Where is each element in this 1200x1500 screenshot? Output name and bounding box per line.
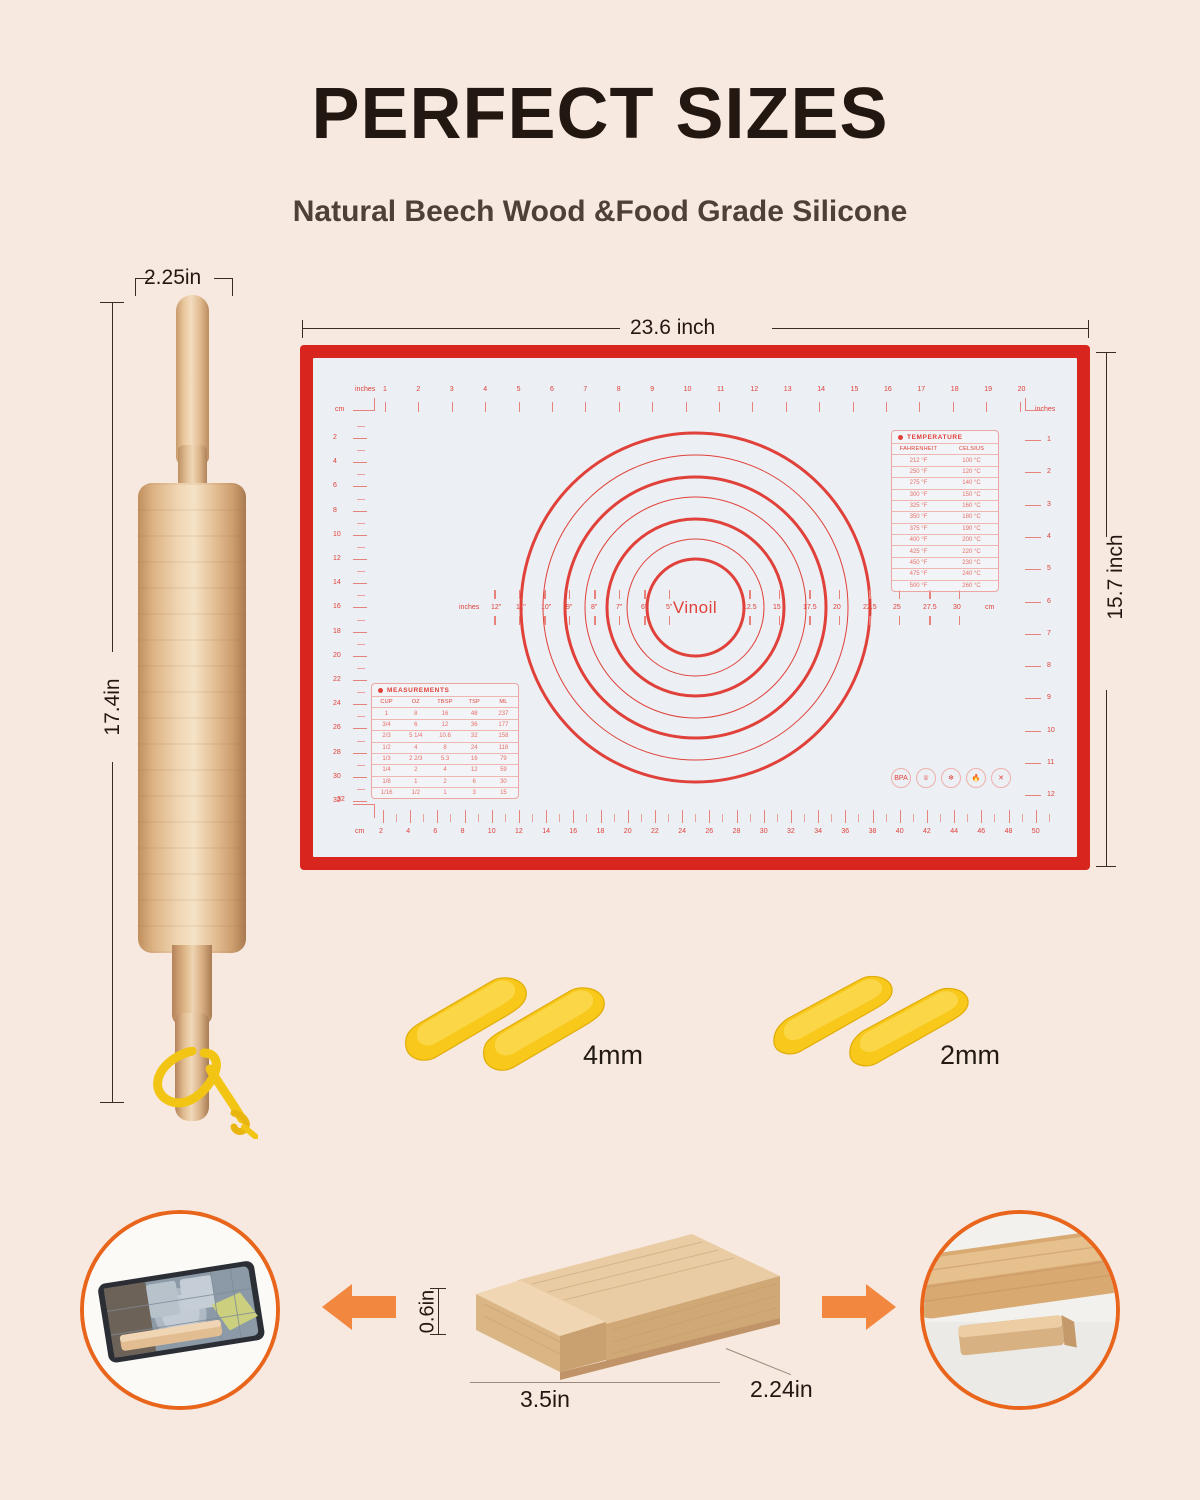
circle-scale-right-tick xyxy=(839,590,840,599)
measurements-table-cell: 1 xyxy=(372,708,401,718)
mat-left-tick xyxy=(353,728,367,729)
temperature-table-cell: 150 °C xyxy=(945,490,998,500)
mat-bottom-tick-label: 44 xyxy=(950,828,958,835)
arrow-left-icon xyxy=(318,1282,398,1332)
mat-left-tick xyxy=(353,777,367,778)
circle-scale-right-value: 12.5 xyxy=(743,604,757,611)
rolling-pin-illustration xyxy=(120,295,280,1125)
mat-bottom-tick xyxy=(845,810,846,823)
mat-bottom-tick xyxy=(873,810,874,823)
temperature-table-cell: 325 °F xyxy=(892,501,945,511)
circle-scale-left-tick xyxy=(544,616,546,625)
measurements-table-row: 1/24824118 xyxy=(372,742,518,753)
temperature-table-row: 325 °F160 °C xyxy=(892,500,998,511)
circle-scale-right-tick xyxy=(809,590,811,599)
mat-bottom-ruler-unit: cm xyxy=(355,828,364,835)
measurements-table-cell: 36 xyxy=(460,720,489,730)
mat-top-tick-label: 20 xyxy=(1018,386,1026,393)
mat-bottom-tick-label: 22 xyxy=(651,828,659,835)
circle-scale-left-tick xyxy=(494,590,496,599)
mat-top-ruler-unit: inches xyxy=(355,386,375,393)
mat-top-tick-label: 3 xyxy=(450,386,454,393)
measurements-table-cell: 3 xyxy=(460,788,489,798)
phone-on-stand-illustration xyxy=(84,1214,276,1406)
mat-bottom-tick xyxy=(1036,810,1037,823)
mat-bottom-tick-label: 40 xyxy=(896,828,904,835)
mat-bottom-tick-label: 6 xyxy=(433,828,437,835)
mat-bottom-minor-tick xyxy=(1022,814,1023,822)
mat-bottom-minor-tick xyxy=(532,814,533,822)
measurements-table-cell: 2 2/3 xyxy=(401,754,430,764)
pin-length-line-upper xyxy=(112,302,113,652)
mat-left-tick xyxy=(353,535,367,536)
mat-left-tick xyxy=(353,680,367,681)
temperature-table-header-row: FAHRENHEITCELSIUS xyxy=(892,443,998,454)
mat-bottom-minor-tick xyxy=(831,814,832,822)
circle-scale-left-value: 9" xyxy=(566,604,572,611)
mat-top-tick-label: 17 xyxy=(917,386,925,393)
circle-scale-right-value: 22.5 xyxy=(863,604,877,611)
mat-bottom-minor-tick xyxy=(668,814,669,822)
mat-top-tick xyxy=(752,402,753,412)
measurements-table-cell: 6 xyxy=(460,777,489,787)
mat-height-label: 15.7 inch xyxy=(1104,527,1128,627)
bpa-free-icon: BPA xyxy=(891,768,911,788)
stand-depth-label: 2.24in xyxy=(750,1376,813,1403)
temperature-table-cell: 180 °C xyxy=(945,512,998,522)
circle-scale-right-tick xyxy=(779,590,780,599)
temperature-table-cell: 200 °C xyxy=(945,535,998,545)
mat-bottom-tick xyxy=(737,810,738,823)
mat-right-tick-label: 7 xyxy=(1047,630,1051,637)
mat-left-minor-tick xyxy=(357,789,365,790)
mat-width-tick-right xyxy=(1088,320,1089,338)
temperature-table-cell: 220 °C xyxy=(945,546,998,556)
mat-corner-bracket-tl-v xyxy=(374,398,375,411)
mat-bottom-tick xyxy=(546,810,547,823)
mat-bottom-minor-tick xyxy=(641,814,642,822)
mat-bottom-tick-label: 12 xyxy=(515,828,523,835)
measurements-table-cell: 30 xyxy=(489,777,518,787)
mat-top-tick xyxy=(986,402,987,412)
mat-height-cap-bottom xyxy=(1096,866,1116,867)
mat-right-tick-label: 3 xyxy=(1047,501,1051,508)
band-4mm-label: 4mm xyxy=(583,1040,643,1071)
circle-scale-right-tick xyxy=(809,616,811,625)
mat-bottom-tick xyxy=(791,810,792,823)
measurements-table-header: MEASUREMENTS xyxy=(372,684,518,696)
mat-corner-bracket-tr xyxy=(1025,410,1043,411)
mat-bottom-tick-label: 18 xyxy=(597,828,605,835)
temperature-table-cell: 275 °F xyxy=(892,478,945,488)
mat-left-tick xyxy=(353,486,367,487)
temperature-table-cell: 500 °F xyxy=(892,581,945,591)
mat-bottom-tick xyxy=(900,810,901,823)
temperature-table-cell: 100 °C xyxy=(945,455,998,465)
measurements-table-cell: 2 xyxy=(430,777,459,787)
mat-left-tick xyxy=(353,462,367,463)
mat-bottom-tick-label: 36 xyxy=(841,828,849,835)
circle-scale-left-tick xyxy=(494,616,496,625)
mat-right-tick xyxy=(1025,537,1041,538)
mat-left-tick-label: 14 xyxy=(333,579,341,586)
measurements-table-cell: 1/2 xyxy=(401,788,430,798)
circle-scale-right-tick xyxy=(959,616,960,625)
circle-scale-right-tick xyxy=(899,616,900,625)
circle-scale-left-value: 10" xyxy=(541,604,551,611)
mat-bottom-tick xyxy=(410,810,411,823)
measurements-table-cell: 5.3 xyxy=(430,754,459,764)
mat-bottom-ruler-corner: 32 xyxy=(337,796,345,803)
temperature-table-header: TEMPERATURE xyxy=(892,431,998,443)
circle-scale-right-tick xyxy=(839,616,840,625)
mat-width-tick-left xyxy=(302,320,303,338)
temperature-table-title: TEMPERATURE xyxy=(907,434,963,441)
pin-on-stand-illustration xyxy=(924,1214,1116,1406)
mat-left-tick-label: 6 xyxy=(333,482,337,489)
mat-bottom-tick-label: 8 xyxy=(461,828,465,835)
mat-left-minor-tick xyxy=(357,523,365,524)
measurements-table-cell: 1/2 xyxy=(372,743,401,753)
mat-right-tick-label: 12 xyxy=(1047,791,1055,798)
mat-top-tick xyxy=(652,402,653,412)
circle-scale-left-tick xyxy=(644,616,646,625)
measurements-table-header-cell: OZ xyxy=(401,697,430,707)
mat-left-tick-label: 2 xyxy=(333,434,337,441)
mat-right-tick-label: 4 xyxy=(1047,533,1051,540)
mat-top-tick xyxy=(786,402,787,412)
circle-scale-right-value: 25 xyxy=(893,604,901,611)
phone-stand-photo xyxy=(80,1210,280,1410)
circle-scale-left-value: 11" xyxy=(516,604,526,611)
temperature-table-cell: 425 °F xyxy=(892,546,945,556)
pin-width-tick-right xyxy=(232,278,233,296)
mat-bottom-tick xyxy=(628,810,629,823)
mat-top-tick xyxy=(519,402,520,412)
mat-top-tick xyxy=(886,402,887,412)
mat-top-tick xyxy=(485,402,486,412)
mat-bottom-tick xyxy=(573,810,574,823)
circle-scale-right-tick xyxy=(749,590,751,599)
measurements-table-title: MEASUREMENTS xyxy=(387,687,449,694)
mat-left-tick xyxy=(353,583,367,584)
mat-top-tick-label: 10 xyxy=(684,386,692,393)
mat-left-tick xyxy=(353,607,367,608)
pin-width-tick-left xyxy=(135,278,136,296)
measurements-table-cell: 15 xyxy=(489,788,518,798)
mat-left-tick-label: 12 xyxy=(333,555,341,562)
yellow-wrist-strap-icon xyxy=(130,1047,258,1139)
temperature-table-cell: 120 °C xyxy=(945,467,998,477)
circle-scale-left-value: 5" xyxy=(666,604,672,611)
mat-left-minor-tick xyxy=(357,644,365,645)
mat-left-minor-tick xyxy=(357,716,365,717)
mat-right-tick-label: 11 xyxy=(1047,759,1054,766)
measurements-table-cell: 24 xyxy=(460,743,489,753)
mat-right-tick xyxy=(1025,602,1041,603)
temperature-table-cell: 160 °C xyxy=(945,501,998,511)
temperature-table-row: 450 °F230 °C xyxy=(892,557,998,568)
mat-bottom-tick xyxy=(519,810,520,823)
circle-scale-right-value: 17.5 xyxy=(803,604,817,611)
mat-left-minor-tick xyxy=(357,547,365,548)
measurements-table-cell: 16 xyxy=(430,708,459,718)
measurements-table-cell: 4 xyxy=(401,743,430,753)
mat-left-tick xyxy=(353,438,367,439)
mat-top-tick-label: 13 xyxy=(784,386,792,393)
circle-scale-right-tick xyxy=(779,616,780,625)
mat-left-tick xyxy=(353,511,367,512)
mat-bottom-tick-label: 48 xyxy=(1005,828,1013,835)
mat-top-tick xyxy=(418,402,419,412)
pin-width-line-right xyxy=(214,278,232,279)
temperature-table-row: 500 °F260 °C xyxy=(892,580,998,591)
measurements-table-row: 1/161/21315 xyxy=(372,787,518,798)
measurements-table-cell: 8 xyxy=(430,743,459,753)
mat-bottom-minor-tick xyxy=(586,814,587,822)
mat-top-tick-label: 16 xyxy=(884,386,892,393)
mat-right-tick-label: 8 xyxy=(1047,662,1051,669)
mat-bottom-tick-label: 26 xyxy=(705,828,713,835)
circle-scale-right-tick xyxy=(749,616,751,625)
temperature-table-cell: 300 °F xyxy=(892,490,945,500)
freezer-safe-icon: ❄ xyxy=(941,768,961,788)
pin-length-cap-bottom xyxy=(100,1102,124,1103)
mat-top-tick-label: 11 xyxy=(717,386,724,393)
mat-bottom-minor-tick xyxy=(695,814,696,822)
mat-bottom-tick-label: 28 xyxy=(733,828,741,835)
temperature-table-cell: 240 °C xyxy=(945,569,998,579)
measurements-table-cell: 1/3 xyxy=(372,754,401,764)
mat-corner-bracket-tr-v xyxy=(1025,398,1026,411)
mat-bottom-minor-tick xyxy=(858,814,859,822)
circle-scale-left-tick xyxy=(619,590,620,599)
temperature-dot-icon xyxy=(898,435,903,440)
mat-top-tick xyxy=(953,402,954,412)
mat-bottom-tick-label: 14 xyxy=(542,828,550,835)
mat-top-tick xyxy=(385,402,386,412)
mat-top-tick-label: 14 xyxy=(817,386,825,393)
mat-left-tick-label: 8 xyxy=(333,507,337,514)
mat-left-minor-tick xyxy=(357,741,365,742)
mat-bottom-tick-label: 16 xyxy=(569,828,577,835)
mat-top-tick xyxy=(1020,402,1021,412)
measurements-table-cell: 48 xyxy=(460,708,489,718)
measurements-table-cell: 2 xyxy=(401,765,430,775)
band-2mm-label: 2mm xyxy=(940,1040,1000,1071)
mat-left-tick-label: 16 xyxy=(333,603,341,610)
mat-corner-bracket-tl xyxy=(353,410,375,411)
measurements-table-cell: 1 xyxy=(430,788,459,798)
circle-scale-left-tick xyxy=(544,590,546,599)
arrow-right-icon xyxy=(820,1282,900,1332)
mat-right-tick xyxy=(1025,666,1041,667)
measurements-table-cell: 16 xyxy=(460,754,489,764)
mat-bottom-minor-tick xyxy=(559,814,560,822)
temperature-table-header-cell: FAHRENHEIT xyxy=(892,444,945,454)
rolling-pin-body xyxy=(138,483,246,953)
mat-bottom-tick-label: 34 xyxy=(814,828,822,835)
circle-scale-left-tick xyxy=(594,590,596,599)
measurements-table-row: 3/461236177 xyxy=(372,719,518,730)
mat-top-tick-label: 5 xyxy=(517,386,521,393)
silicone-baking-mat: inches cm 123456789101112131415161718192… xyxy=(300,345,1090,870)
mat-left-tick xyxy=(353,632,367,633)
mat-left-tick-label: 22 xyxy=(333,676,341,683)
mat-bottom-tick xyxy=(1009,810,1010,823)
mat-bottom-tick xyxy=(655,810,656,823)
temperature-table-row: 425 °F220 °C xyxy=(892,545,998,556)
circle-scale-right-value: 15 xyxy=(773,604,781,611)
mat-bottom-minor-tick xyxy=(750,814,751,822)
mat-bottom-minor-tick xyxy=(505,814,506,822)
temperature-table-cell: 475 °F xyxy=(892,569,945,579)
mat-top-tick-label: 8 xyxy=(617,386,621,393)
mat-top-tick xyxy=(552,402,553,412)
mat-top-tick xyxy=(686,402,687,412)
measurements-table-cell: 32 xyxy=(460,731,489,741)
mat-top-tick-label: 6 xyxy=(550,386,554,393)
rolling-pin-handle-top xyxy=(176,295,209,465)
mat-bottom-tick-label: 10 xyxy=(488,828,496,835)
mat-left-minor-tick xyxy=(357,474,365,475)
stand-width-line xyxy=(470,1382,720,1383)
measurements-table-header-cell: CUP xyxy=(372,697,401,707)
mat-top-tick-label: 2 xyxy=(416,386,420,393)
mat-top-tick-label: 19 xyxy=(984,386,992,393)
measurements-table-cell: 1/4 xyxy=(372,765,401,775)
mat-left-tick xyxy=(353,704,367,705)
mat-right-tick-label: 1 xyxy=(1047,436,1051,443)
mat-bottom-minor-tick xyxy=(940,814,941,822)
mat-top-tick xyxy=(585,402,586,412)
temperature-conversion-table: TEMPERATURE FAHRENHEITCELSIUS212 °F100 °… xyxy=(891,430,999,592)
mat-bottom-tick-label: 24 xyxy=(678,828,686,835)
temperature-table-cell: 400 °F xyxy=(892,535,945,545)
mat-height-line-upper xyxy=(1106,352,1107,537)
mat-top-tick xyxy=(919,402,920,412)
pin-length-label: 17.4in xyxy=(101,667,125,747)
mat-left-tick-label: 18 xyxy=(333,628,341,635)
measurements-table-header-row: CUPOZTBSPTSPML xyxy=(372,696,518,707)
mat-bottom-minor-tick xyxy=(450,814,451,822)
measurements-table-cell: 79 xyxy=(489,754,518,764)
measurements-table-row: 1/32 2/35.31679 xyxy=(372,753,518,764)
temperature-table-cell: 212 °F xyxy=(892,455,945,465)
mat-left-minor-tick xyxy=(357,595,365,596)
mat-bottom-tick xyxy=(981,810,982,823)
mat-right-tick-label: 6 xyxy=(1047,598,1051,605)
circle-scale-left-tick xyxy=(669,616,670,625)
mat-top-tick xyxy=(819,402,820,412)
mat-bottom-minor-tick xyxy=(777,814,778,822)
measurements-table-cell: 3/4 xyxy=(372,720,401,730)
mat-left-minor-tick xyxy=(357,692,365,693)
mat-left-tick-label: 24 xyxy=(333,700,341,707)
mat-left-tick xyxy=(353,801,367,802)
measurements-table-cell: 2/3 xyxy=(372,731,401,741)
measurements-table-cell: 1 xyxy=(401,777,430,787)
mat-left-tick-label: 30 xyxy=(333,773,341,780)
measurements-table-cell: 12 xyxy=(460,765,489,775)
circle-scale-left-unit: inches xyxy=(459,604,479,611)
circle-scale-left-tick xyxy=(569,616,570,625)
temperature-table-row: 350 °F180 °C xyxy=(892,511,998,522)
mat-left-tick xyxy=(353,753,367,754)
mat-left-minor-tick xyxy=(357,499,365,500)
mat-right-tick xyxy=(1025,472,1041,473)
mat-bottom-tick xyxy=(682,810,683,823)
mat-top-tick-label: 18 xyxy=(951,386,959,393)
circle-scale-left-tick xyxy=(519,616,520,625)
mat-bottom-minor-tick xyxy=(994,814,995,822)
mat-right-tick xyxy=(1025,440,1041,441)
mat-top-tick-label: 7 xyxy=(583,386,587,393)
mat-bottom-tick xyxy=(818,810,819,823)
mat-bottom-tick xyxy=(383,810,384,823)
food-safe-icon: ♕ xyxy=(916,768,936,788)
circle-scale-right-value: 27.5 xyxy=(923,604,937,611)
circle-scale-left-tick xyxy=(569,590,570,599)
measurements-table-header-cell: TSP xyxy=(460,697,489,707)
measurements-table-cell: 177 xyxy=(489,720,518,730)
mat-top-tick xyxy=(619,402,620,412)
mat-bottom-tick-label: 30 xyxy=(760,828,768,835)
mat-left-tick-label: 4 xyxy=(333,458,337,465)
mat-top-tick-label: 12 xyxy=(750,386,758,393)
temperature-table-row: 400 °F200 °C xyxy=(892,534,998,545)
temperature-table-row: 250 °F120 °C xyxy=(892,466,998,477)
mat-right-tick-label: 9 xyxy=(1047,694,1051,701)
mat-right-tick xyxy=(1025,569,1041,570)
mat-left-tick xyxy=(353,559,367,560)
mat-bottom-tick xyxy=(465,810,466,823)
mat-bottom-tick xyxy=(437,810,438,823)
mat-left-tick-label: 10 xyxy=(333,531,341,538)
mat-left-tick-label: 28 xyxy=(333,749,341,756)
mat-right-tick xyxy=(1025,505,1041,506)
measurements-conversion-table: MEASUREMENTS CUPOZTBSPTSPML1816482373/46… xyxy=(371,683,519,799)
mat-left-minor-tick xyxy=(357,668,365,669)
mat-bottom-tick-label: 20 xyxy=(624,828,632,835)
measurements-dot-icon xyxy=(378,688,383,693)
mat-bottom-minor-tick xyxy=(722,814,723,822)
mat-bottom-tick-label: 50 xyxy=(1032,828,1040,835)
mat-bottom-minor-tick xyxy=(804,814,805,822)
temperature-table-header-cell: CELSIUS xyxy=(945,444,998,454)
mat-bottom-tick-label: 46 xyxy=(977,828,985,835)
mat-top-tick-label: 4 xyxy=(483,386,487,393)
mat-bottom-minor-tick xyxy=(396,814,397,822)
circle-scale-left-value: 8" xyxy=(591,604,597,611)
mat-width-label: 23.6 inch xyxy=(630,316,715,340)
circle-scale-left-tick xyxy=(594,616,596,625)
no-knife-icon: ✕ xyxy=(991,768,1011,788)
measurements-table-row: 1/812630 xyxy=(372,776,518,787)
mat-width-line-right xyxy=(772,328,1088,329)
mat-left-minor-tick xyxy=(357,765,365,766)
temperature-table-cell: 250 °F xyxy=(892,467,945,477)
temperature-table-cell: 450 °F xyxy=(892,558,945,568)
measurements-table-cell: 59 xyxy=(489,765,518,775)
mat-corner-bracket-bl xyxy=(353,804,375,805)
mat-right-tick xyxy=(1025,763,1041,764)
measurements-table-cell: 6 xyxy=(401,720,430,730)
mat-bottom-minor-tick xyxy=(886,814,887,822)
mat-top-tick-label: 15 xyxy=(851,386,859,393)
mat-surface: inches cm 123456789101112131415161718192… xyxy=(313,358,1077,857)
stand-height-label: 0.6in xyxy=(417,1272,440,1352)
